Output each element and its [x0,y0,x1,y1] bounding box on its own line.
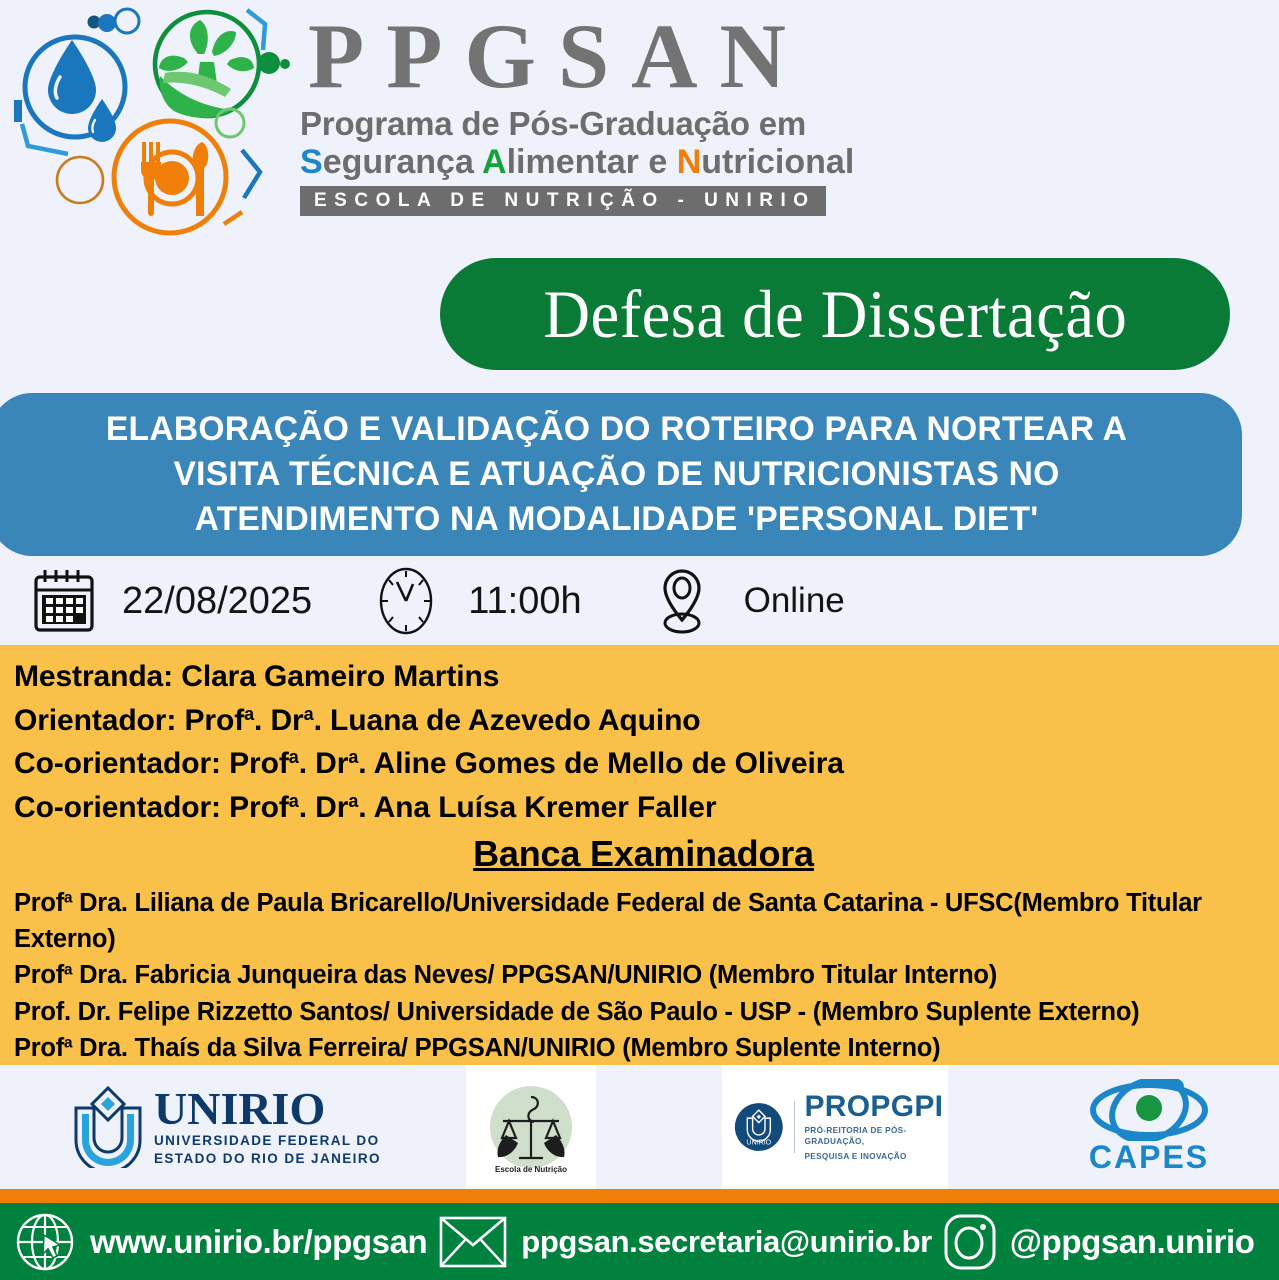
event-time-text: 11:00h [468,580,581,623]
event-place: Online [654,565,845,637]
escola-nutricao-logo: Escola de Nutrição [466,1065,596,1189]
escola-nutricao-caption: Escola de Nutrição [495,1165,567,1174]
unirio-sub-line-2: ESTADO DO RIO DE JANEIRO [154,1151,381,1167]
footer-email[interactable]: ppgsan.secretaria@unirio.br [437,1213,932,1271]
thesis-title-banner: ELABORAÇÃO E VALIDAÇÃO DO ROTEIRO PARA N… [0,393,1242,556]
map-pin-icon [654,565,710,637]
calendar-icon [30,566,98,636]
unirio-logo: UNIRIO UNIVERSIDADE FEDERAL DO ESTADO DO… [70,1065,381,1189]
footer-instagram-text: @ppgsan.unirio [1010,1223,1255,1261]
poster-header: PPGSAN Programa de Pós-Graduação em Segu… [0,0,1279,250]
contact-footer: www.unirio.br/ppgsan ppgsan.secretaria@u… [0,1203,1279,1280]
san-decoration-graphic [2,2,292,250]
program-line-1: Programa de Pós-Graduação em [300,105,860,143]
person-row: Orientador: Profa. Dra. Luana de Azevedo… [14,699,1273,743]
poster: PPGSAN Programa de Pós-Graduação em Segu… [0,0,1279,1280]
footer-website-text: www.unirio.br/ppgsan [90,1223,427,1261]
person-row: Co-orientador: Profa. Dra. Aline Gomes d… [14,742,1273,786]
committee-member: Profa Dra. Fabricia Junqueira das Neves/… [14,957,1273,993]
committee-member: Profa Dra. Thaís da Silva Ferreira/ PPGS… [14,1030,1273,1066]
ppgsan-logo-text: PPGSAN Programa de Pós-Graduação em Segu… [300,8,860,216]
participants-section: Mestranda: Clara Gameiro Martins Orienta… [0,645,1279,1065]
propgpi-sub-line-1: PRÓ-REITORIA DE PÓS-GRADUAÇÃO, [805,1125,949,1147]
propgpi-unirio-seal-icon: UNIRIO [734,1099,784,1155]
propgpi-divider [794,1101,795,1153]
committee-member: Prof. Dr. Felipe Rizzetto Santos/ Univer… [14,994,1273,1030]
ppgsan-acronym: PPGSAN [300,8,860,105]
person-row: Co-orientador: Profa. Dra. Ana Luísa Kre… [14,786,1273,830]
clock-icon [374,565,438,637]
unirio-sub-line-1: UNIVERSIDADE FEDERAL DO [154,1133,381,1149]
event-type-banner: Defesa de Dissertação [440,258,1230,370]
unirio-wordmark: UNIRIO [154,1087,381,1131]
footer-website[interactable]: www.unirio.br/ppgsan [14,1211,427,1273]
committee-member: Profa Dra. Liliana de Paula Bricarello/U… [14,885,1273,957]
footer-orange-rule [0,1189,1279,1203]
capes-logo: CAPES [1080,1065,1218,1189]
school-band: ESCOLA DE NUTRIÇÃO - UNIRIO [300,186,826,216]
event-details-row: 22/08/2025 11:00h Online [0,560,1279,642]
event-date-text: 22/08/2025 [122,580,312,623]
propgpi-seal-label: UNIRIO [746,1139,771,1147]
event-place-text: Online [744,581,845,621]
propgpi-logo: UNIRIO PROPGPI PRÓ-REITORIA DE PÓS-GRADU… [722,1065,948,1189]
sponsor-logos-strip: UNIRIO UNIVERSIDADE FEDERAL DO ESTADO DO… [0,1065,1279,1189]
program-line-2: Segurança Alimentar e Nutricional [300,143,860,182]
page-title: ELABORAÇÃO E VALIDAÇÃO DO ROTEIRO PARA N… [54,407,1178,542]
committee-heading: Banca Examinadora [14,833,1273,875]
escola-nutricao-seal-icon: Escola de Nutrição [479,1075,583,1179]
event-time: 11:00h [374,565,581,637]
capes-wordmark: CAPES [1089,1139,1209,1176]
footer-email-text: ppgsan.secretaria@unirio.br [521,1224,932,1260]
event-date: 22/08/2025 [30,566,312,636]
globe-cursor-icon [14,1211,76,1273]
footer-instagram[interactable]: @ppgsan.unirio [942,1212,1255,1272]
capes-atom-icon [1080,1079,1218,1141]
propgpi-sub-line-2: PESQUISA E INOVAÇÃO [805,1151,949,1162]
instagram-icon [942,1212,998,1272]
person-row: Mestranda: Clara Gameiro Martins [14,655,1273,699]
unirio-mark-icon [70,1086,146,1168]
propgpi-wordmark: PROPGPI [805,1092,949,1122]
event-type-label: Defesa de Dissertação [543,280,1127,348]
envelope-icon [437,1213,509,1271]
